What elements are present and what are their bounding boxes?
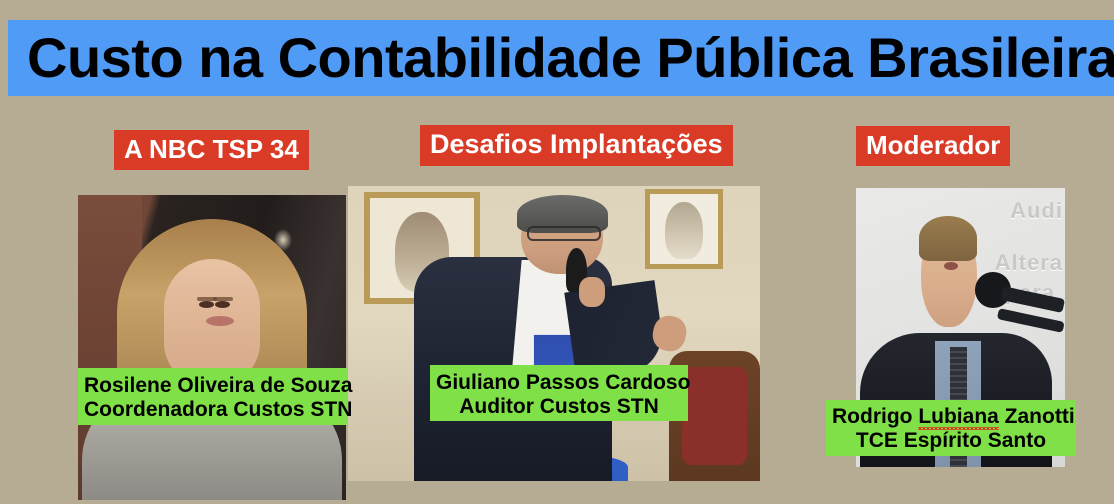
section-label-nbc-tsp-34: A NBC TSP 34 [114, 130, 309, 170]
speaker-name: Rosilene Oliveira de Souza [84, 374, 344, 398]
chair-backrest [682, 367, 747, 466]
speaker-name: Rodrigo Lubiana Zanotti [832, 405, 1070, 429]
speaker-caption-rodrigo: Rodrigo Lubiana Zanotti TCE Espírito San… [826, 400, 1076, 456]
portrait-eye-left [199, 301, 214, 308]
portrait-eye-right [215, 301, 230, 308]
speaker-photo-giuliano [348, 186, 760, 481]
speaker-name-first: Rodrigo [832, 405, 918, 428]
speaker-photo-rosilene [78, 195, 346, 500]
speaker-name-last: Zanotti [999, 405, 1075, 428]
title-banner: Custo na Contabilidade Pública Brasileir… [8, 20, 1114, 96]
section-label-desafios-implantacoes: Desafios Implantações [420, 125, 733, 166]
speaker-caption-giuliano: Giuliano Passos Cardoso Auditor Custos S… [430, 365, 688, 421]
speaker-role: Auditor Custos STN [436, 395, 682, 419]
portrait-glasses [527, 226, 601, 241]
spellcheck-flagged-word: Lubiana [918, 405, 999, 429]
portrait-hair [919, 216, 978, 261]
wall-picture-frame-small [645, 189, 723, 269]
page-title: Custo na Contabilidade Pública Brasileir… [27, 30, 1114, 86]
speaker-name: Giuliano Passos Cardoso [436, 371, 682, 395]
portrait-mouth [944, 262, 958, 270]
speaker-role: TCE Espírito Santo [832, 429, 1070, 453]
speaker-caption-rosilene: Rosilene Oliveira de Souza Coordenadora … [78, 368, 348, 425]
section-label-moderador: Moderador [856, 126, 1010, 166]
backdrop-text-line-1: Audi [1010, 198, 1063, 224]
portrait-hand-left [579, 277, 606, 307]
presentation-slide: Custo na Contabilidade Pública Brasileir… [0, 0, 1114, 504]
backdrop-text-line-2: Altera [995, 250, 1063, 276]
framed-portrait [665, 202, 703, 259]
speaker-role: Coordenadora Custos STN [84, 398, 344, 422]
portrait-face [164, 259, 260, 385]
portrait-mouth [206, 316, 234, 326]
